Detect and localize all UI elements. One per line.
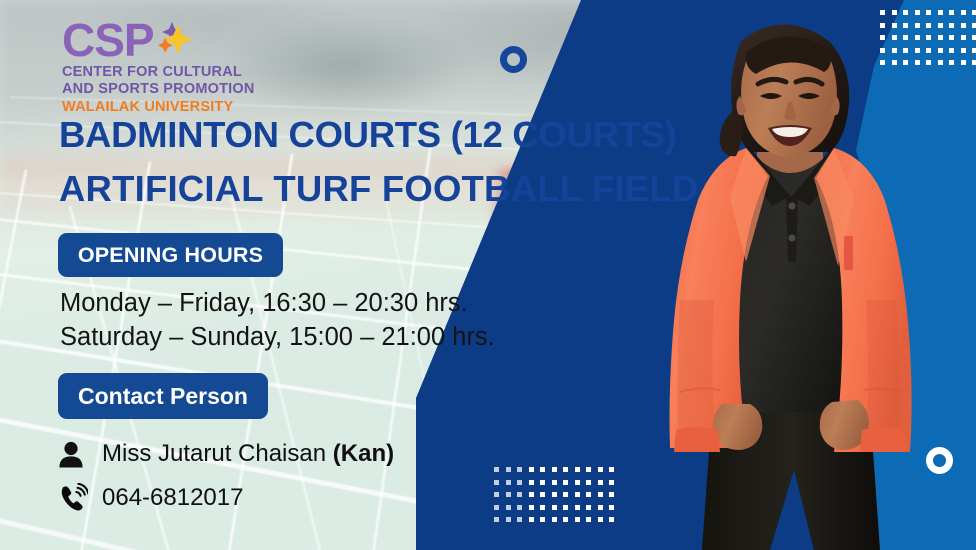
dot	[915, 10, 920, 15]
dot	[575, 480, 580, 485]
dot	[529, 480, 534, 485]
dot	[949, 35, 954, 40]
dot	[915, 60, 920, 65]
dot	[903, 60, 908, 65]
opening-hours-badge: OPENING HOURS	[58, 233, 283, 277]
dot	[892, 23, 897, 28]
dot	[552, 505, 557, 510]
dot	[903, 48, 908, 53]
dot	[609, 492, 614, 497]
dot	[915, 23, 920, 28]
dot	[494, 517, 499, 522]
dot	[506, 480, 511, 485]
logo-line-1: CENTER FOR CULTURAL	[62, 64, 262, 81]
dot	[517, 467, 522, 472]
dot	[598, 505, 603, 510]
dot	[494, 505, 499, 510]
dot	[880, 48, 885, 53]
dot	[961, 35, 966, 40]
contact-phone-row[interactable]: 064-6812017	[58, 483, 243, 513]
dot	[892, 48, 897, 53]
contact-person-row: Miss Jutarut Chaisan (Kan)	[58, 440, 394, 468]
dot	[938, 23, 943, 28]
dot	[609, 480, 614, 485]
dot	[926, 23, 931, 28]
dot	[552, 480, 557, 485]
dot	[494, 480, 499, 485]
dot	[915, 48, 920, 53]
circle-outline-white-icon	[926, 447, 953, 474]
dot	[575, 492, 580, 497]
dot	[506, 467, 511, 472]
dot	[517, 505, 522, 510]
dot	[552, 517, 557, 522]
dot	[506, 517, 511, 522]
dot	[961, 10, 966, 15]
dot	[903, 35, 908, 40]
contact-person-name: Miss Jutarut Chaisan (Kan)	[102, 440, 394, 468]
dot	[563, 517, 568, 522]
dot	[563, 492, 568, 497]
dot	[972, 23, 976, 28]
headline-line-2: ARTIFICIAL TURF FOOTBALL FIELD	[59, 162, 698, 216]
dot	[598, 492, 603, 497]
dot	[609, 467, 614, 472]
dot	[529, 492, 534, 497]
dot	[586, 480, 591, 485]
dot	[972, 35, 976, 40]
phone-ringing-icon	[58, 483, 102, 513]
dot	[892, 10, 897, 15]
dot	[949, 10, 954, 15]
headline-block: BADMINTON COURTS (12 COURTS) ARTIFICIAL …	[59, 108, 698, 215]
dot	[575, 517, 580, 522]
dot	[586, 505, 591, 510]
dot	[575, 467, 580, 472]
dot	[892, 35, 897, 40]
dot	[892, 60, 897, 65]
dot	[880, 23, 885, 28]
photo-subject	[618, 0, 958, 550]
poster-root: CSP CENTER FOR CULTURAL AND SPORTS PROMO…	[0, 0, 976, 550]
dot	[529, 517, 534, 522]
contact-person-fullname: Miss Jutarut Chaisan	[102, 440, 333, 467]
dot	[903, 10, 908, 15]
dot	[586, 492, 591, 497]
dot	[961, 60, 966, 65]
dot	[552, 492, 557, 497]
dot	[926, 10, 931, 15]
four-point-star-gold-icon	[163, 25, 192, 54]
dot	[563, 480, 568, 485]
headline-line-1: BADMINTON COURTS (12 COURTS)	[59, 108, 698, 162]
dot	[949, 23, 954, 28]
user-icon	[58, 441, 102, 468]
dot	[529, 467, 534, 472]
dot	[563, 505, 568, 510]
contact-person-nickname: (Kan)	[333, 440, 394, 467]
dot	[880, 10, 885, 15]
logo-line-2: AND SPORTS PROMOTION	[62, 81, 262, 98]
dot	[517, 492, 522, 497]
dot	[540, 480, 545, 485]
dot	[949, 48, 954, 53]
dot	[598, 517, 603, 522]
dot	[506, 505, 511, 510]
dot	[494, 467, 499, 472]
dot	[575, 505, 580, 510]
contact-person-badge: Contact Person	[58, 373, 268, 419]
csp-logo: CSP CENTER FOR CULTURAL AND SPORTS PROMO…	[62, 18, 262, 116]
contact-phone-number[interactable]: 064-6812017	[102, 484, 243, 512]
dot	[517, 480, 522, 485]
dot	[494, 492, 499, 497]
dot	[517, 517, 522, 522]
dot	[938, 35, 943, 40]
dot	[972, 60, 976, 65]
dot	[961, 48, 966, 53]
dot	[552, 467, 557, 472]
court-line	[0, 169, 27, 550]
dot	[609, 505, 614, 510]
dot	[529, 505, 534, 510]
dot	[938, 10, 943, 15]
dot	[506, 492, 511, 497]
opening-hours-text: Monday – Friday, 16:30 – 20:30 hrs. Satu…	[60, 287, 495, 355]
dot	[609, 517, 614, 522]
dot	[563, 467, 568, 472]
dot	[586, 517, 591, 522]
dot	[972, 48, 976, 53]
dot	[540, 492, 545, 497]
circle-outline-blue-icon	[500, 46, 527, 73]
dot	[903, 23, 908, 28]
logo-star-cluster	[156, 18, 200, 64]
dot	[926, 48, 931, 53]
dot	[540, 505, 545, 510]
dot	[926, 35, 931, 40]
dot	[598, 467, 603, 472]
dot	[938, 48, 943, 53]
opening-hours-line-2: Saturday – Sunday, 15:00 – 21:00 hrs.	[60, 321, 495, 355]
dot	[926, 60, 931, 65]
dot	[880, 35, 885, 40]
dot	[540, 467, 545, 472]
opening-hours-line-1: Monday – Friday, 16:30 – 20:30 hrs.	[60, 287, 495, 321]
dot	[938, 60, 943, 65]
dot	[949, 60, 954, 65]
dot	[540, 517, 545, 522]
dot	[586, 467, 591, 472]
dot	[961, 23, 966, 28]
dot	[972, 10, 976, 15]
logo-mark-text: CSP	[62, 18, 154, 62]
dot	[915, 35, 920, 40]
dot	[880, 60, 885, 65]
dot	[598, 480, 603, 485]
